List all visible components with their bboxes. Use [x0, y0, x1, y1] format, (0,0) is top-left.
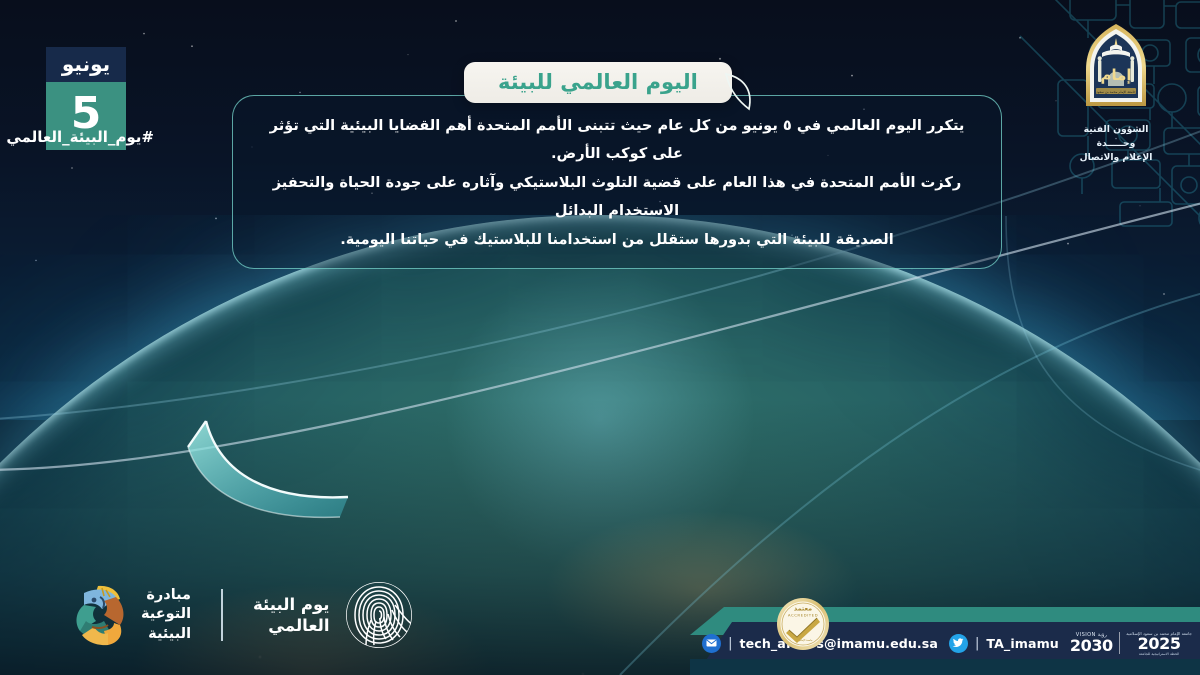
vision-2030-logo: VISION رؤية 2030	[1070, 632, 1113, 654]
email-address: tech_affairs@imamu.edu.sa	[740, 636, 938, 651]
title-badge: اليوم العالمي للبيئة	[464, 62, 732, 103]
environmental-awareness-text: مبادرة التوعية البيئية	[141, 586, 191, 643]
teal-curved-ribbon-icon	[180, 405, 410, 525]
brand-2-line-3: البيئية	[141, 625, 191, 644]
footer-bar: معتمد ACCREDITED جامعة الإمام | tech_aff…	[690, 593, 1200, 675]
university-logo-line-1: الشؤون الفنية	[1060, 123, 1172, 137]
poster-canvas: يونيو 5 #يوم_البيئة_العالمي يتكرر اليوم …	[0, 0, 1200, 675]
brand-2-line-2: التوعية	[141, 605, 191, 624]
description-line-3: الصديقة للبيئة التي بدورها ستقلل من استخ…	[259, 226, 975, 254]
vision-2025-bottom-label: الخطة الاستراتيجية للجامعة	[1126, 652, 1192, 656]
imam-university-emblem-icon: إمام جامعة الإمام محمد بن سعود	[1080, 22, 1152, 112]
twitter-separator: |	[975, 636, 979, 651]
vision-2025-year: 2025	[1126, 636, 1192, 652]
twitter-contact[interactable]: | TA_imamu	[949, 634, 1059, 653]
description-line-1: يتكرر اليوم العالمي في ٥ يونيو من كل عام…	[259, 112, 975, 169]
seal-english-label: ACCREDITED	[788, 613, 818, 618]
vision-logos: VISION رؤية 2030 جامعة الإمام محمد بن سع…	[1070, 631, 1192, 656]
university-logo-line-3: الإعلام والاتصال	[1060, 151, 1172, 165]
accreditation-seal-icon: معتمد ACCREDITED جامعة الإمام	[776, 597, 830, 651]
description-line-2: ركزت الأمم المتحدة في هذا العام على قضية…	[259, 169, 975, 226]
hashtag-label: #يوم_البيئة_العالمي	[24, 128, 154, 146]
brand-divider	[221, 589, 223, 641]
twitter-bird-icon	[949, 634, 968, 653]
twitter-handle: TA_imamu	[986, 636, 1058, 651]
page-title: اليوم العالمي للبيئة	[498, 70, 698, 94]
date-month-label: يونيو	[46, 47, 126, 82]
vision-2030-year: 2030	[1070, 638, 1113, 654]
world-environment-day-text: يوم البيئة العالمي	[253, 594, 329, 636]
brand-logos: يوم البيئة العالمي مبادرة التوعية البيئي…	[58, 579, 415, 651]
environmental-awareness-brand: مبادرة التوعية البيئية	[58, 583, 191, 647]
seal-arabic-label: معتمد	[794, 605, 812, 613]
university-logo-line-2: وحـــــدة	[1060, 137, 1172, 151]
leaf-accent-icon	[722, 72, 756, 112]
world-environment-day-brand: يوم البيئة العالمي	[253, 579, 414, 651]
university-logo-text: الشؤون الفنية وحـــــدة الإعلام والاتصال	[1060, 123, 1172, 164]
vision-divider	[1119, 632, 1120, 654]
brand-1-line-1: يوم البيئة	[253, 594, 329, 615]
email-separator: |	[728, 636, 732, 651]
environmental-awareness-icon	[58, 583, 128, 647]
envelope-icon	[702, 634, 721, 653]
brand-1-line-2: العالمي	[253, 615, 329, 636]
fingerprint-globe-icon	[343, 579, 415, 651]
brand-2-line-1: مبادرة	[141, 586, 191, 605]
vision-2025-logo: جامعة الإمام محمد بن سعود الإسلامية 2025…	[1126, 631, 1192, 656]
description-panel: يتكرر اليوم العالمي في ٥ يونيو من كل عام…	[232, 95, 1002, 269]
svg-text:إمام: إمام	[1100, 66, 1131, 84]
university-logo: إمام جامعة الإمام محمد بن سعود الشؤون ال…	[1060, 22, 1172, 164]
footer-contact-row: | tech_affairs@imamu.edu.sa | TA_imamu V…	[690, 624, 1200, 662]
